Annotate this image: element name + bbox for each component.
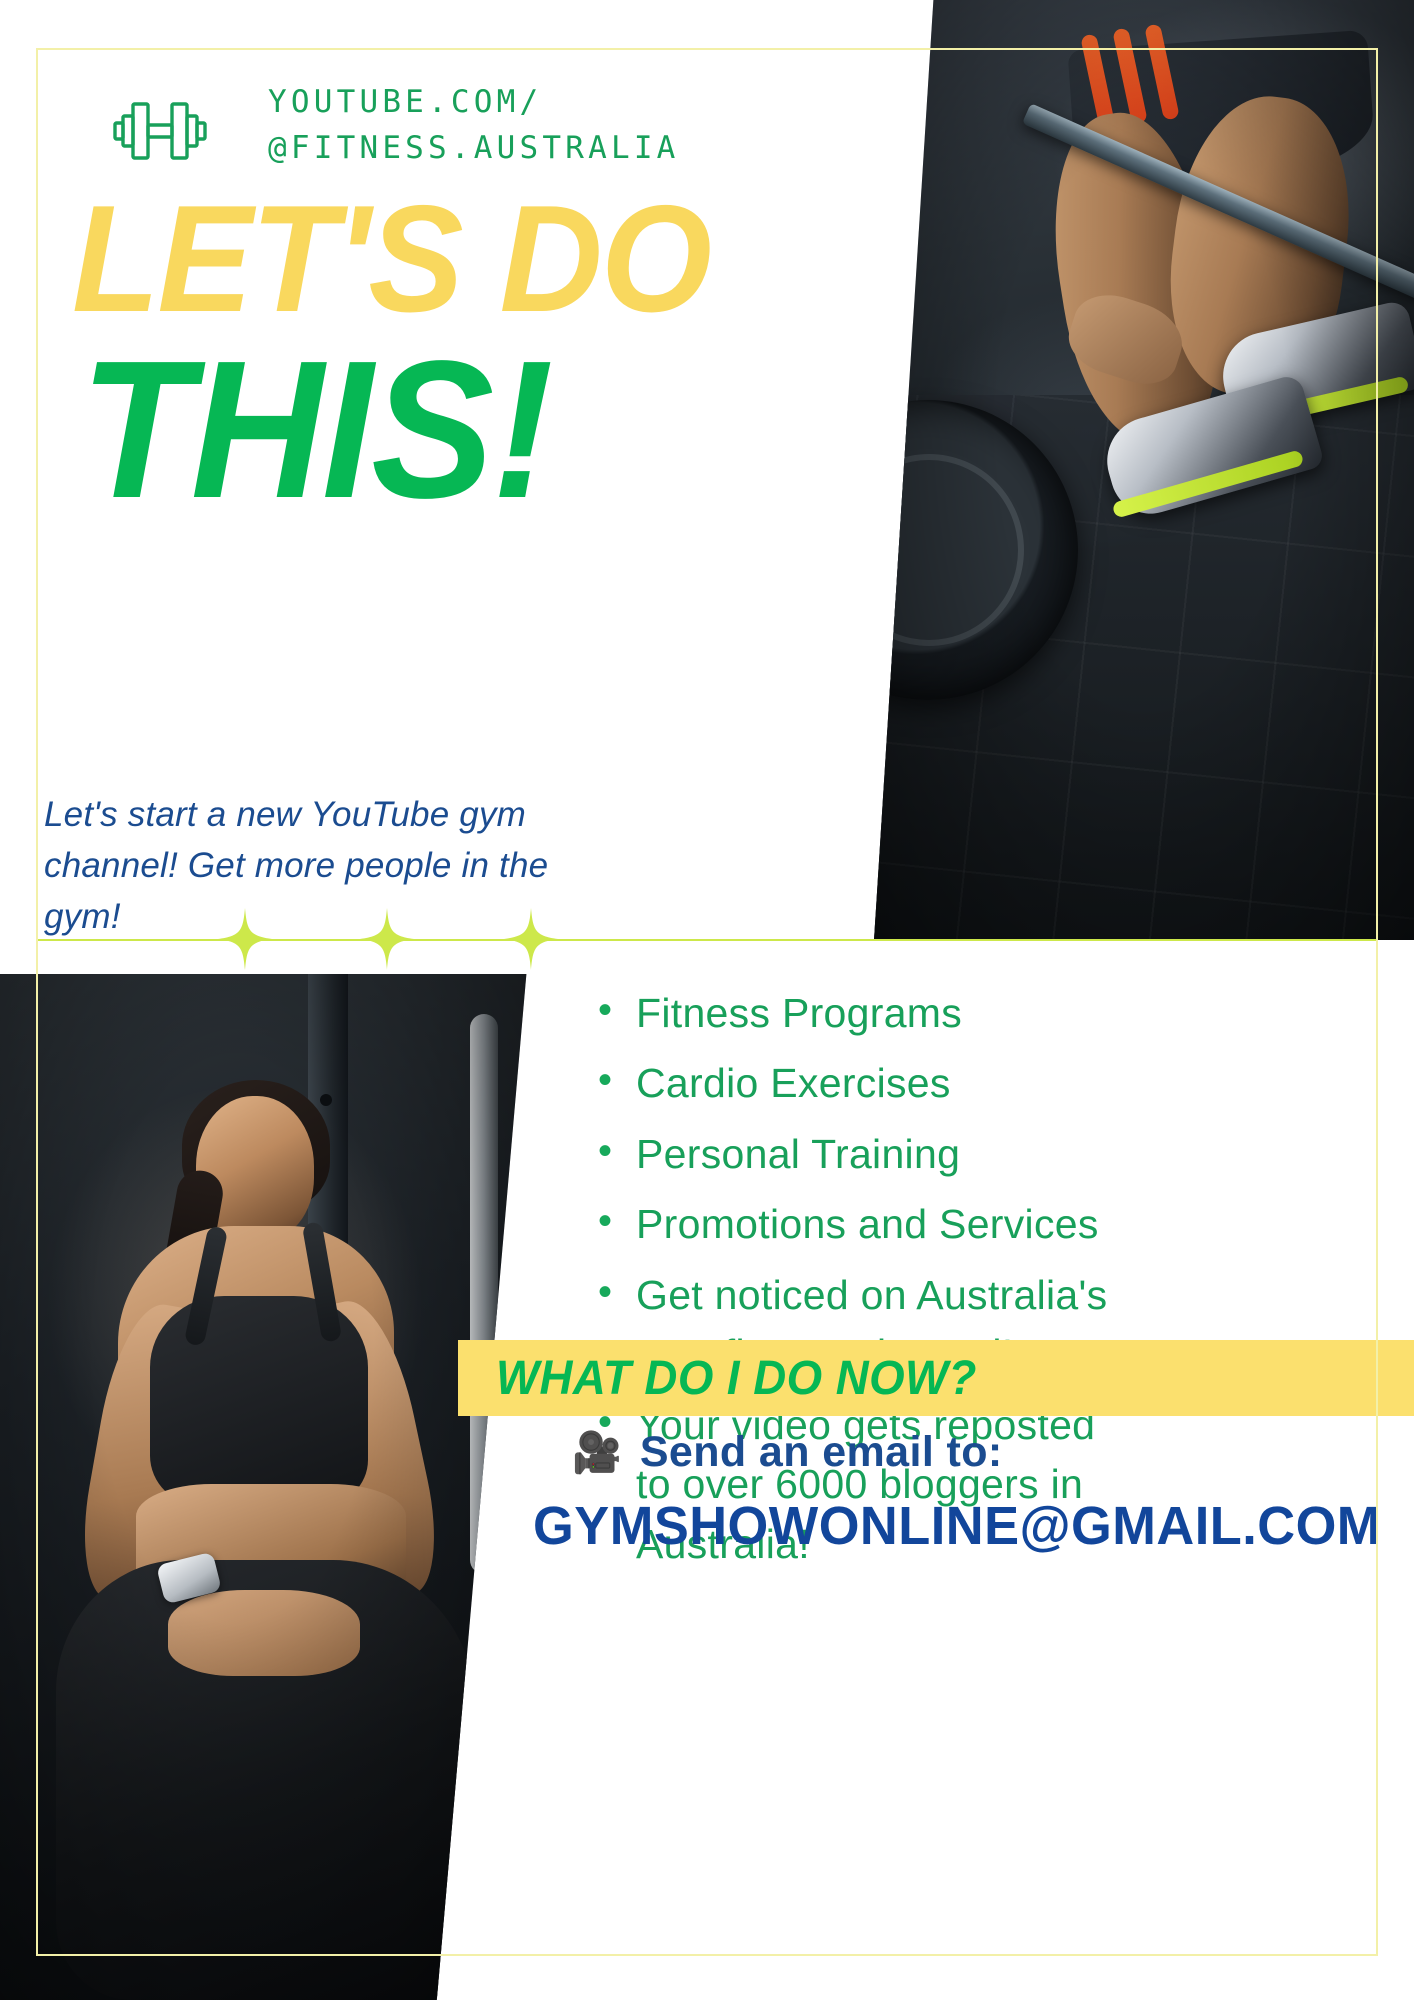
contact-label: Send an email to: [640, 1428, 1003, 1477]
cta-banner: WHAT DO I DO NOW? [458, 1340, 1414, 1416]
bullet-icon: • [598, 990, 636, 1030]
bullet-icon: • [598, 1060, 636, 1100]
brand-row: YOUTUBE.COM/ @FITNESS.AUSTRALIA [110, 80, 680, 172]
sparkle-divider [38, 936, 1376, 944]
cta-banner-label: WHAT DO I DO NOW? [496, 1351, 977, 1406]
bullet-icon: • [598, 1201, 636, 1241]
headline: LET'S DO THIS! [72, 190, 751, 520]
contact-block: 🎥 Send an email to: GYMSHOWONLINE@GMAIL.… [520, 1428, 1390, 1557]
headline-line-1: LET'S DO [72, 190, 710, 330]
list-item-label: Fitness Programs [636, 984, 962, 1043]
list-item: • Cardio Exercises [598, 1054, 1378, 1113]
movie-camera-icon: 🎥 [572, 1433, 622, 1473]
list-item-label: Cardio Exercises [636, 1054, 951, 1113]
channel-url[interactable]: YOUTUBE.COM/ @FITNESS.AUSTRALIA [268, 80, 680, 172]
bullet-icon: • [598, 1272, 636, 1312]
sparkle-icon [360, 908, 414, 970]
top-section: YOUTUBE.COM/ @FITNESS.AUSTRALIA LET'S DO… [0, 0, 1414, 940]
hero-athlete-photo [874, 0, 1414, 940]
dumbbell-icon [110, 80, 210, 168]
contact-email[interactable]: GYMSHOWONLINE@GMAIL.COM [533, 1495, 1377, 1557]
list-item-label: Promotions and Services [636, 1195, 1099, 1254]
subtitle-text: Let's start a new YouTube gym channel! G… [44, 790, 564, 940]
sparkle-icon [218, 908, 272, 970]
list-item-label: Personal Training [636, 1125, 960, 1184]
woman-gym-photo [0, 974, 560, 2000]
contact-line: 🎥 Send an email to: [572, 1428, 1390, 1477]
bullet-icon: • [598, 1131, 636, 1171]
list-item: • Fitness Programs [598, 984, 1378, 1043]
headline-line-2: THIS! [80, 340, 711, 520]
list-item: • Promotions and Services [598, 1195, 1378, 1254]
list-item: • Personal Training [598, 1125, 1378, 1184]
sparkle-icon [504, 908, 558, 970]
